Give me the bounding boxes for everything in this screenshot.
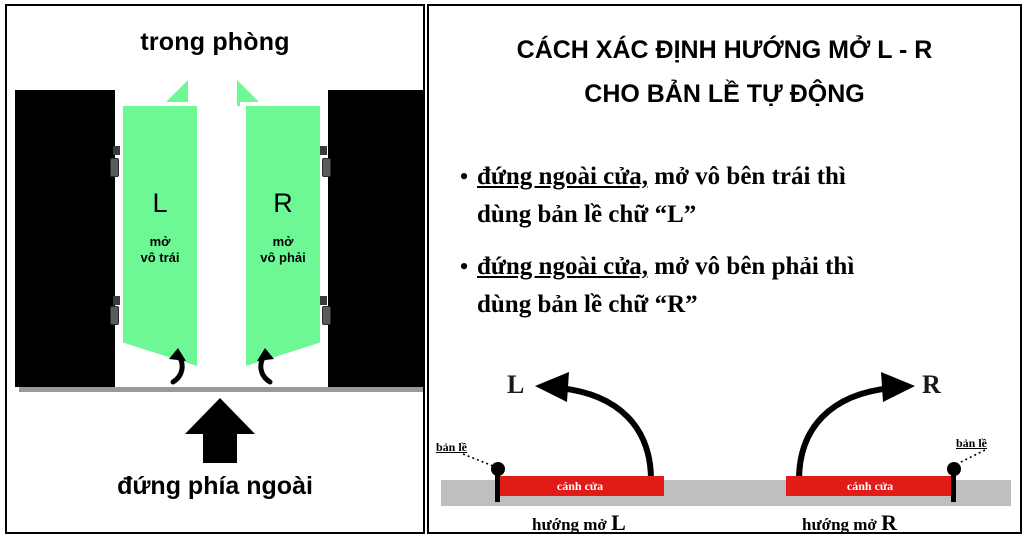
direction-label-left-letter: L <box>611 510 626 534</box>
door-sublabel-left: mở vô trái <box>117 234 203 266</box>
bullet-dot-icon: • <box>451 248 477 286</box>
hinge-pivot-icon <box>491 462 505 476</box>
list-item: • đứng ngoài cửa, mở vô bên trái thì dùn… <box>451 158 1011 234</box>
page-title: CÁCH XÁC ĐỊNH HƯỚNG MỞ L - R CHO BẢN LỀ … <box>429 28 1020 116</box>
bullet-underlined-phrase: đứng ngoài cửa, <box>477 253 648 280</box>
hinge-label-right: bản lề <box>956 436 987 451</box>
bullet-line2: dùng bản lề chữ “L” <box>477 201 696 228</box>
hinge-icon <box>110 306 119 325</box>
direction-label-left: hướng mở L <box>532 510 626 534</box>
page-root: trong phòng L R mở vô trái mở vô phải <box>0 0 1026 539</box>
label-trong-phong: trong phòng <box>7 28 423 57</box>
hinge-icon <box>322 306 331 325</box>
bullet-dot-icon: • <box>451 158 477 196</box>
hinge-stem-icon <box>495 472 500 502</box>
bullet-rest-line1: mở vô bên phải thì <box>648 253 854 280</box>
right-info-panel: CÁCH XÁC ĐỊNH HƯỚNG MỞ L - R CHO BẢN LỀ … <box>427 4 1022 534</box>
bullet-text: đứng ngoài cửa, mở vô bên trái thì dùng … <box>477 158 846 234</box>
bullet-text: đứng ngoài cửa, mở vô bên phải thì dùng … <box>477 248 854 324</box>
direction-label-left-prefix: hướng mở <box>532 515 611 534</box>
hinge-pivot-icon <box>947 462 961 476</box>
bullet-list: • đứng ngoài cửa, mở vô bên trái thì dùn… <box>451 158 1011 338</box>
list-item: • đứng ngoài cửa, mở vô bên phải thì dùn… <box>451 248 1011 324</box>
page-title-line1: CÁCH XÁC ĐỊNH HƯỚNG MỞ L - R <box>429 28 1020 72</box>
hinge-icon <box>322 158 331 177</box>
swing-direction-schematic: cánh cửa cánh cửa bản lề bản lề L R hướn… <box>429 358 1020 534</box>
door-sublabel-right-line2: vô phải <box>240 250 326 266</box>
door-letter-right: R <box>246 188 320 219</box>
door-panel-left: cánh cửa <box>496 476 664 496</box>
label-dung-phia-ngoai: đứng phía ngoài <box>7 472 423 501</box>
door-sublabel-left-line1: mở <box>117 234 203 250</box>
door-sublabel-right-line1: mở <box>240 234 326 250</box>
direction-label-right-letter: R <box>881 510 897 534</box>
hinge-icon <box>320 296 327 305</box>
hinge-icon <box>113 146 120 155</box>
direction-letter-left: L <box>507 370 524 400</box>
direction-label-right: hướng mở R <box>802 510 897 534</box>
swing-arc-icon <box>115 336 328 391</box>
door-letter-left: L <box>123 188 197 219</box>
hinge-icon <box>110 158 119 177</box>
bullet-underlined-phrase: đứng ngoài cửa, <box>477 163 648 190</box>
door-panel-right: cánh cửa <box>786 476 954 496</box>
hinge-stem-icon <box>951 472 956 502</box>
bullet-line2: dùng bản lề chữ “R” <box>477 291 698 318</box>
door-sublabel-left-line2: vô trái <box>117 250 203 266</box>
page-title-line2: CHO BẢN LỀ TỰ ĐỘNG <box>429 72 1020 116</box>
hinge-icon <box>113 296 120 305</box>
hinge-icon <box>320 146 327 155</box>
up-arrow-icon <box>185 398 255 463</box>
direction-letter-right: R <box>922 370 941 400</box>
direction-label-right-prefix: hướng mở <box>802 515 881 534</box>
bullet-rest-line1: mở vô bên trái thì <box>648 163 846 190</box>
hinge-label-left: bản lề <box>436 440 467 455</box>
door-sublabel-right: mở vô phải <box>240 234 326 266</box>
left-illustration-panel: trong phòng L R mở vô trái mở vô phải <box>5 4 425 534</box>
